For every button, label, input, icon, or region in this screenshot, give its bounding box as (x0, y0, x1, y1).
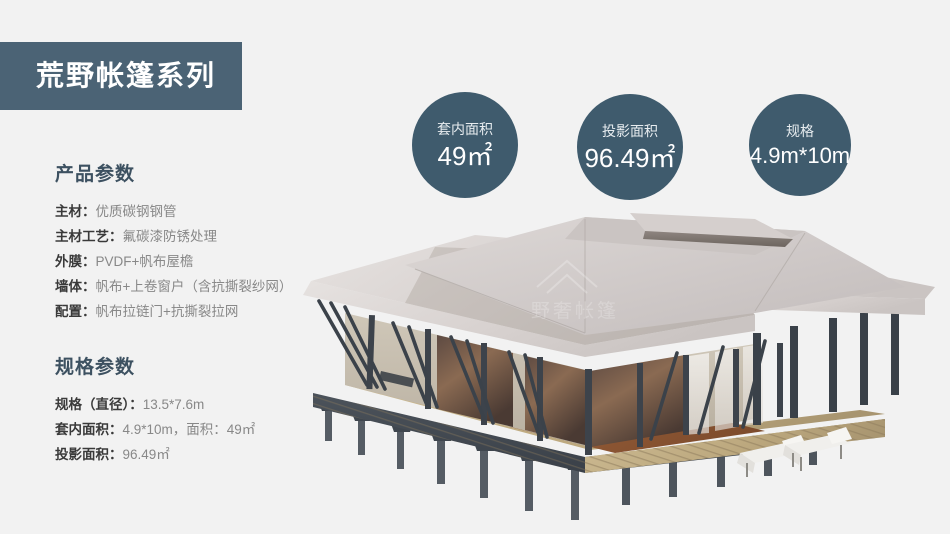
spec-row: 外膜：PVDF+帆布屋檐 (55, 249, 292, 274)
spec-value: 4.9*10m，面积：49㎡ (123, 422, 256, 437)
spec-value: 96.49㎡ (123, 447, 170, 462)
tent-cabin-3d-render: 野奢帐篷 (285, 195, 945, 525)
stat-badge-value: 4.9m*10m (750, 145, 850, 167)
stat-badge-value: 49㎡ (438, 143, 493, 169)
stat-badge-projected-area: 投影面积 96.49㎡ (577, 94, 683, 200)
spec-row: 规格（直径）：13.5*7.6m (55, 392, 255, 417)
spec-section-size: 规格参数 规格（直径）：13.5*7.6m 套内面积：4.9*10m，面积：49… (55, 358, 255, 467)
spec-row: 主材：优质碳钢钢管 (55, 199, 292, 224)
spec-label: 投影面积： (55, 447, 123, 462)
spec-row: 套内面积：4.9*10m，面积：49㎡ (55, 417, 255, 442)
stat-badge-label: 套内面积 (437, 122, 493, 136)
spec-row: 投影面积：96.49㎡ (55, 442, 255, 467)
spec-label: 主材： (55, 204, 96, 219)
spec-value: PVDF+帆布屋檐 (96, 254, 194, 269)
title-banner: 荒野帐篷系列 (0, 42, 242, 110)
spec-value: 13.5*7.6m (143, 397, 205, 412)
spec-label: 外膜： (55, 254, 96, 269)
spec-row: 墙体：帆布+上卷窗户（含抗撕裂纱网） (55, 274, 292, 299)
title-banner-text: 荒野帐篷系列 (36, 62, 216, 90)
watermark-text: 野奢帐篷 (531, 300, 619, 322)
spec-heading-product: 产品参数 (55, 165, 292, 186)
stat-badge-label: 投影面积 (602, 124, 658, 138)
spec-value: 帆布拉链门+抗撕裂拉网 (96, 304, 239, 319)
spec-value: 氟碳漆防锈处理 (123, 229, 218, 244)
spec-row: 主材工艺：氟碳漆防锈处理 (55, 224, 292, 249)
tent-cabin-illustration: 野奢帐篷 (285, 195, 945, 525)
stat-badge-value: 96.49㎡ (584, 145, 675, 171)
page-root: 荒野帐篷系列 产品参数 主材：优质碳钢钢管 主材工艺：氟碳漆防锈处理 外膜：PV… (0, 0, 950, 534)
spec-label: 配置： (55, 304, 96, 319)
stat-badge-dimensions: 规格 4.9m*10m (749, 94, 851, 196)
veranda-posts (753, 307, 899, 425)
spec-label: 规格（直径）： (55, 397, 143, 412)
spec-label: 墙体： (55, 279, 96, 294)
spec-label: 套内面积： (55, 422, 123, 437)
stat-badge-interior-area: 套内面积 49㎡ (412, 92, 518, 198)
spec-section-product: 产品参数 主材：优质碳钢钢管 主材工艺：氟碳漆防锈处理 外膜：PVDF+帆布屋檐… (55, 165, 292, 324)
spec-value: 帆布+上卷窗户（含抗撕裂纱网） (96, 279, 293, 294)
spec-label: 主材工艺： (55, 229, 123, 244)
spec-heading-size: 规格参数 (55, 358, 255, 379)
spec-value: 优质碳钢钢管 (96, 204, 177, 219)
stat-badge-label: 规格 (786, 124, 814, 138)
spec-row: 配置：帆布拉链门+抗撕裂拉网 (55, 299, 292, 324)
